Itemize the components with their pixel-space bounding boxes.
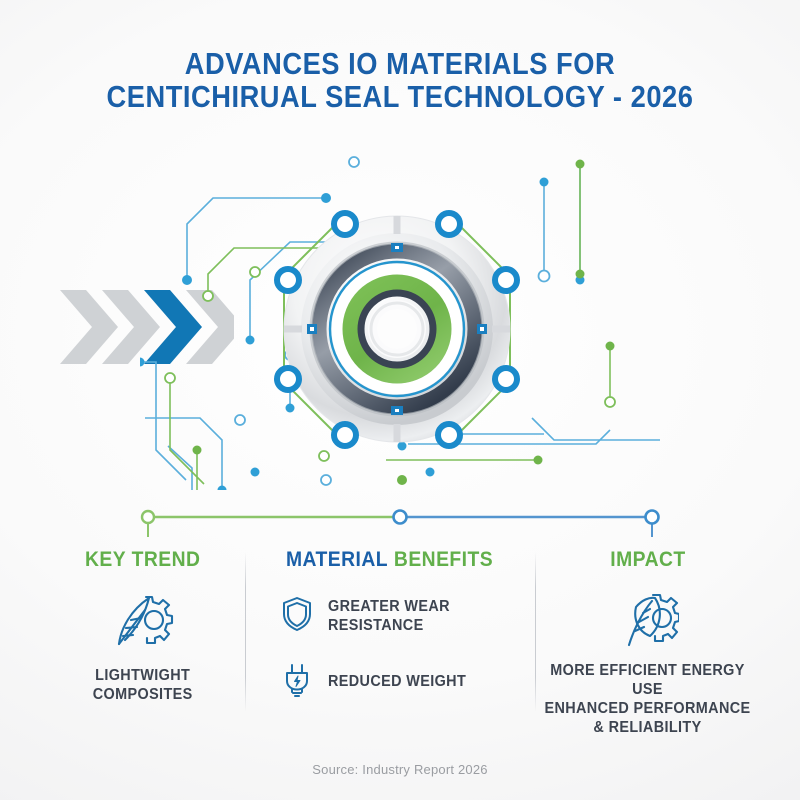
plug-icon [281, 662, 313, 703]
column-key-trend: KEY TREND LIGHTWIGHT COMPOSITES [40, 548, 245, 705]
heading-impact-text: IMPACT [610, 548, 685, 571]
benefit-item-weight: REDUCED WEIGHT [281, 662, 535, 703]
benefit-line-1: GREATER WEAR [328, 598, 450, 617]
caption-line-2: ENHANCED PERFORMANCE & RELIABILITY [543, 700, 752, 738]
heading-material-benefits: MATERIAL BENEFITS [286, 548, 493, 572]
feather-gear-icon [111, 592, 175, 650]
caption-impact: MORE EFFICIENT ENERGY USE ENHANCED PERFO… [543, 662, 752, 738]
heading-key-trend: KEY TREND [85, 548, 200, 572]
connector-node-right [646, 511, 659, 524]
caption-line-1: MORE EFFICIENT ENERGY USE [543, 662, 752, 700]
source-note: Source: Industry Report 2026 [0, 762, 800, 777]
leaf-gear-icon [617, 592, 679, 648]
caption-key-trend: LIGHTWIGHT COMPOSITES [93, 667, 193, 705]
benefit-item-wear: GREATER WEAR RESISTANCE [281, 596, 535, 637]
title-line-2: CENTICHIRUAL SEAL TECHNOLOGY - 2026 [48, 81, 752, 114]
heading-key-trend-text: KEY TREND [85, 548, 200, 571]
caption-line-2: COMPOSITES [93, 686, 193, 705]
caption-line-1: LIGHTWIGHT [93, 667, 193, 686]
benefit-line-1: REDUCED WEIGHT [328, 673, 466, 692]
page-title: ADVANCES IO MATERIALS FOR CENTICHIRUAL S… [0, 48, 800, 114]
column-material-benefits: MATERIAL BENEFITS GREATER WEAR RESISTANC… [245, 548, 535, 703]
heading-impact: IMPACT [610, 548, 685, 572]
benefit-text-weight: REDUCED WEIGHT [328, 673, 466, 692]
section-connector [100, 508, 700, 543]
connector-node-center [394, 511, 407, 524]
title-line-1: ADVANCES IO MATERIALS FOR [48, 48, 752, 81]
heading-benefits-text: BENEFITS [394, 548, 493, 571]
shield-icon [281, 596, 313, 637]
column-impact: IMPACT MORE EFFICIENT ENERGY USE ENHANCE… [535, 548, 760, 738]
benefit-text-wear: GREATER WEAR RESISTANCE [328, 598, 450, 636]
benefit-line-2: RESISTANCE [328, 617, 450, 636]
centichirual-seal-diagram [140, 150, 660, 495]
connector-node-left [142, 511, 154, 523]
heading-material-text: MATERIAL [286, 548, 388, 571]
